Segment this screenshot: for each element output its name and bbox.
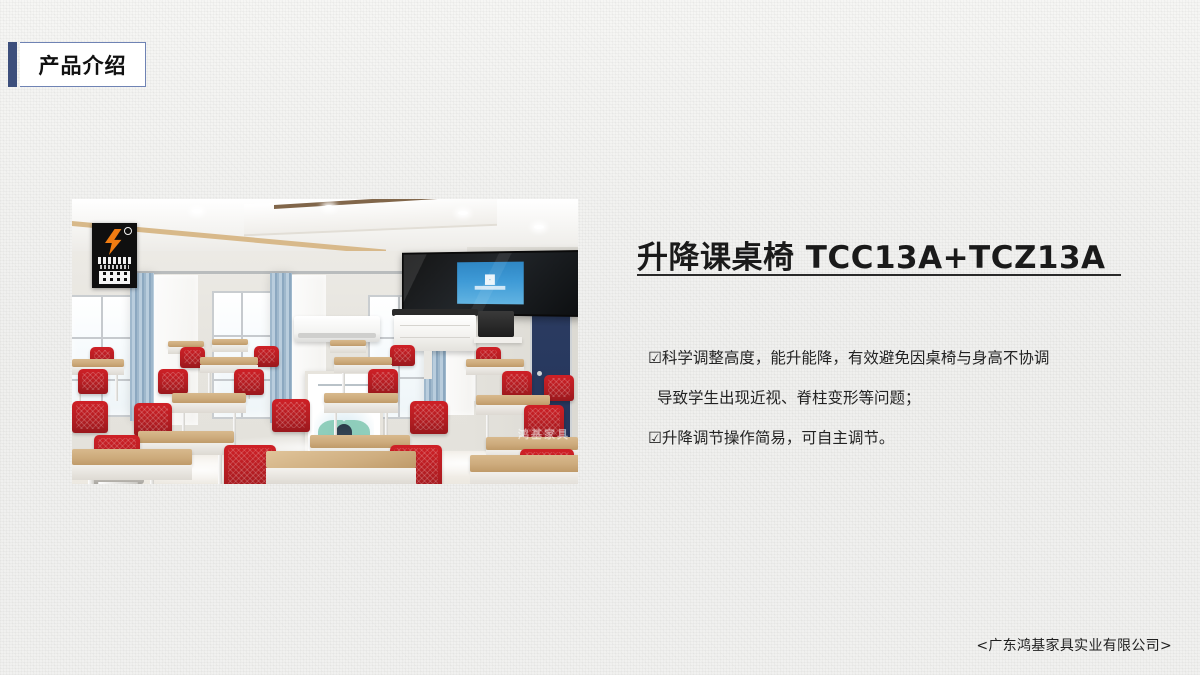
feature-line-3: ☑升降调节操作简易，可自主调节。 [648, 418, 1148, 458]
product-photo: 鸿基家具 [72, 199, 578, 484]
student-chair [72, 401, 108, 433]
poster-text-line [318, 384, 356, 386]
student-desk [212, 339, 248, 345]
student-chair [158, 369, 188, 394]
chair-leg [98, 482, 138, 484]
product-title: 升降课桌椅 TCC13A+TCZ13A [637, 232, 1106, 277]
student-chair [390, 345, 415, 366]
feature-list: ☑科学调整高度，能升能降，有效避免因桌椅与身高不协调 导致学生出现近视、脊柱变形… [648, 338, 1148, 458]
podium-shelf [474, 337, 522, 343]
feature-line-2: 导致学生出现近视、脊柱变形等问题； [648, 378, 1148, 418]
student-desk [138, 431, 234, 443]
student-chair [502, 371, 532, 397]
door-knob [537, 371, 542, 376]
curtain-left [130, 273, 154, 421]
ceiling-light [192, 209, 202, 213]
student-desk [72, 359, 124, 367]
brand-watermark-logo [92, 223, 137, 288]
student-chair [410, 401, 448, 434]
student-chair [234, 369, 264, 395]
student-desk [324, 393, 398, 403]
smartboard-glare [404, 252, 578, 315]
student-chair [368, 369, 398, 395]
student-desk [330, 340, 366, 346]
lightning-bolt-icon [103, 229, 123, 255]
section-badge: 产品介绍 [8, 42, 146, 87]
badge-label: 产品介绍 [39, 50, 127, 80]
photo-watermark-text: 鸿基家具 [518, 426, 570, 442]
student-desk [172, 393, 246, 403]
interactive-smartboard [402, 250, 578, 317]
student-desk [200, 357, 258, 365]
student-desk [72, 449, 192, 465]
product-title-underline [637, 274, 1121, 276]
badge-accent-tab [8, 42, 17, 87]
watermark-brand-latin [98, 257, 131, 264]
badge-box: 产品介绍 [20, 42, 146, 87]
feature-line-1: ☑科学调整高度，能升能降，有效避免因桌椅与身高不协调 [648, 338, 1148, 378]
registered-trademark-icon [124, 227, 132, 235]
student-desk [334, 357, 392, 365]
student-desk [266, 451, 416, 468]
footer-company-name: <广东鸿基家具实业有限公司> [976, 635, 1172, 655]
student-desk [476, 395, 550, 405]
air-conditioner [294, 316, 380, 342]
ceiling-light [534, 225, 544, 229]
podium-stand [424, 351, 432, 379]
student-desk [466, 359, 524, 367]
student-chair [78, 369, 108, 394]
slide-canvas: 产品介绍 [0, 0, 1200, 675]
student-desk [470, 455, 578, 472]
ceiling-light [458, 211, 468, 215]
watermark-brand-chinese [99, 271, 130, 284]
photo-scene: 鸿基家具 [72, 199, 578, 484]
ceiling-light [324, 205, 334, 209]
student-chair [272, 399, 310, 432]
podium-computer [478, 311, 514, 337]
watermark-brand-subtitle [100, 265, 129, 269]
